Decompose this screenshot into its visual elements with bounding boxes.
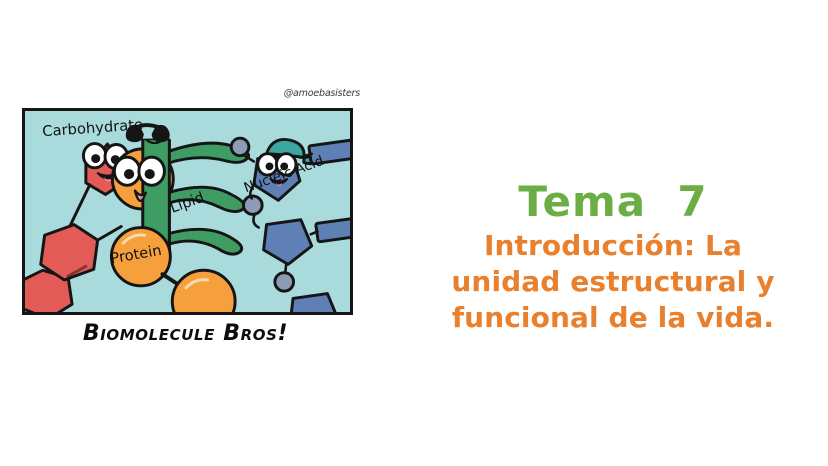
title-block: Tema 7 Introducción: La unidad estructur… bbox=[398, 178, 828, 336]
subtitle-line-2: unidad estructural y bbox=[398, 264, 828, 300]
subtitle-line-3: funcional de la vida. bbox=[398, 300, 828, 336]
page-subtitle: Introducción: La unidad estructural y fu… bbox=[398, 228, 828, 336]
comic-frame: CarbohydrateLipidProteinNucleic Acid bbox=[22, 108, 353, 315]
biomolecule-illustration: @amoebasisters bbox=[18, 88, 362, 354]
carbohydrate-molecule bbox=[25, 144, 128, 312]
artist-watermark: @amoebasisters bbox=[284, 88, 360, 99]
illustration-caption: Biomolecule Bros! bbox=[18, 321, 353, 346]
slide-canvas: @amoebasisters bbox=[0, 0, 828, 466]
page-title: Tema 7 bbox=[398, 178, 828, 226]
biomolecule-bros-drawing: CarbohydrateLipidProteinNucleic Acid bbox=[25, 111, 350, 312]
subtitle-line-1: Introducción: La bbox=[398, 228, 828, 264]
